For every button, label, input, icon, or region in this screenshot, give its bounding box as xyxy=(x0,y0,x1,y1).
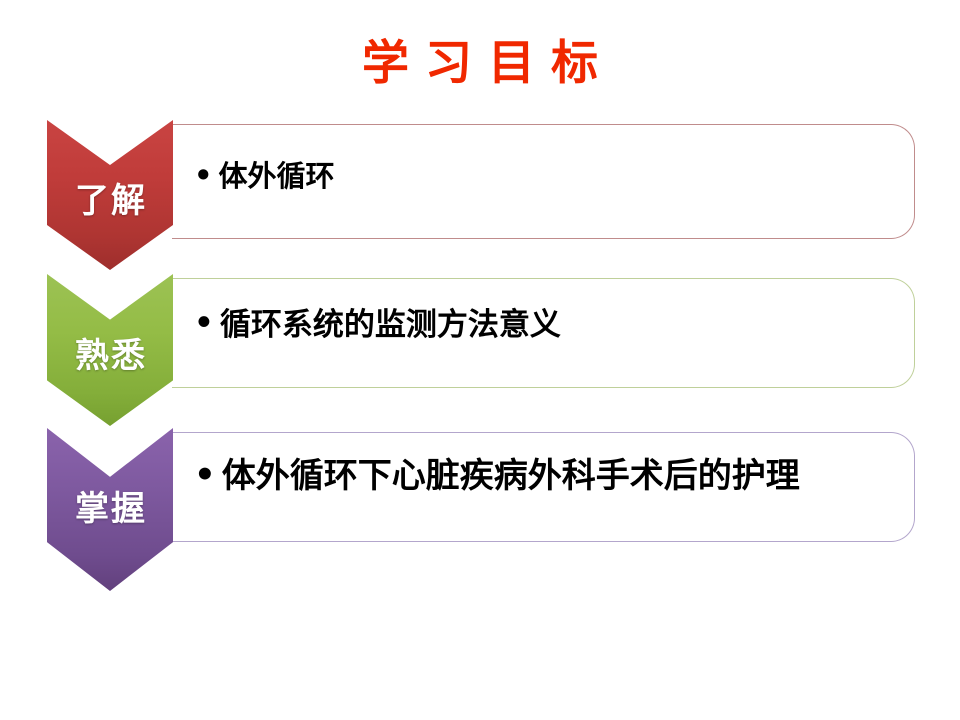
goal-level-label-3: 掌握 xyxy=(47,489,173,529)
bullet-dot-icon: • xyxy=(194,454,216,497)
slide-canvas: 学习目标 •体外循环 了解 •循环系统的监测方法意义 熟悉 •体外循环下心脏疾病… xyxy=(0,0,960,720)
goal-row-3: •体外循环下心脏疾病外科手术后的护理 掌握 xyxy=(0,0,960,720)
goal-panel-3: •体外循环下心脏疾病外科手术后的护理 xyxy=(172,432,915,542)
goal-bullet-label-3: 体外循环下心脏疾病外科手术后的护理 xyxy=(222,456,800,496)
goal-bullet-text-3: •体外循环下心脏疾病外科手术后的护理 xyxy=(194,455,900,499)
